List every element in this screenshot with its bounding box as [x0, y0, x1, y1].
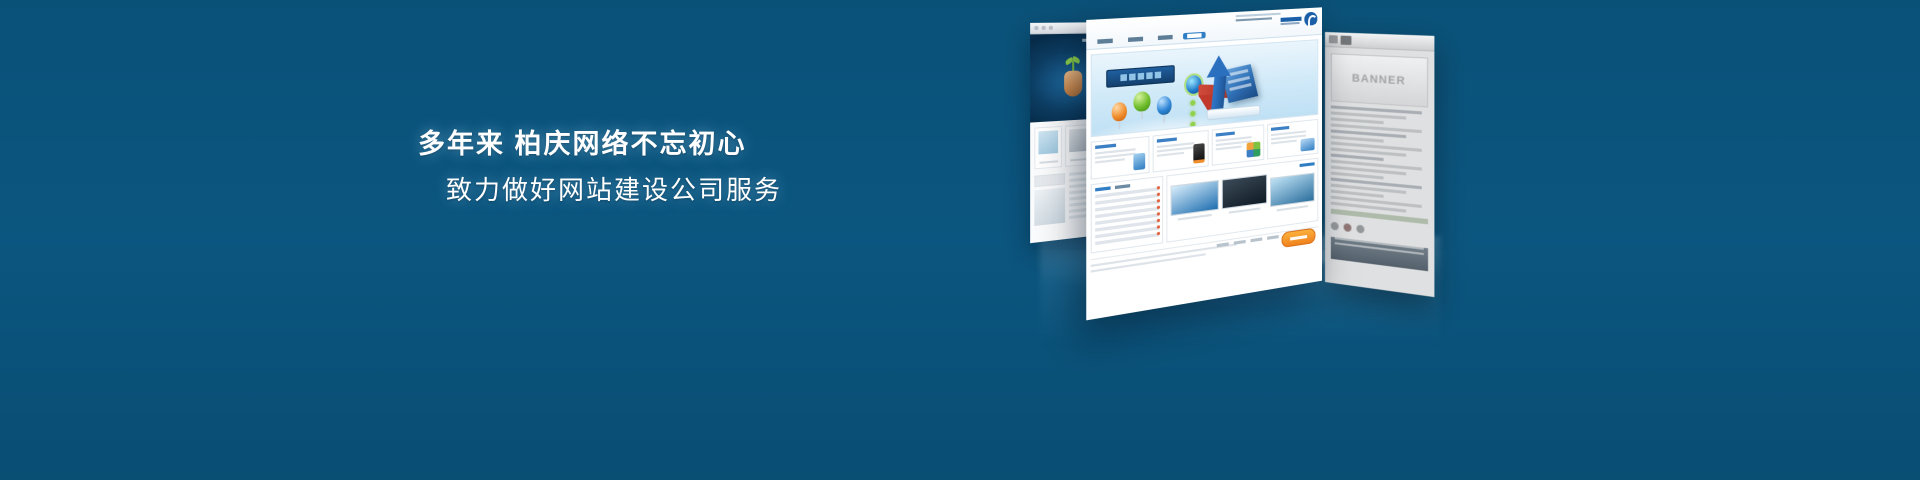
right-window-banner-label: BANNER — [1352, 72, 1406, 87]
hero-title-plate — [1106, 65, 1175, 88]
grid-icon — [1247, 141, 1261, 157]
sprout-icon — [1060, 56, 1086, 98]
monitor-icon — [1301, 138, 1315, 152]
main-nav — [1093, 32, 1206, 46]
mockup-group: BANNER — [1020, 0, 1450, 330]
nav-item-3[interactable] — [1154, 34, 1177, 42]
headline-line-1: 多年来 柏庆网络不忘初心 — [418, 128, 978, 162]
right-window-titlebar — [1325, 32, 1434, 52]
feature-card-phone[interactable] — [1152, 130, 1208, 173]
green-dots — [1190, 100, 1195, 127]
portfolio-thumb[interactable] — [1222, 174, 1268, 215]
right-window-mockup: BANNER — [1325, 32, 1434, 297]
right-window-banner: BANNER — [1331, 53, 1428, 107]
header-slogan — [1236, 13, 1281, 24]
dot-icon — [1344, 223, 1352, 232]
site-logo — [1281, 12, 1318, 29]
main-window-mockup — [1086, 7, 1322, 320]
feature-card-folder[interactable] — [1091, 136, 1149, 180]
footer-cta-button[interactable] — [1282, 228, 1316, 249]
left-window-figure-col — [1034, 173, 1065, 226]
phone-icon — [1193, 143, 1204, 164]
banner-stage: 多年来 柏庆网络不忘初心 致力做好网站建设公司服务 — [0, 0, 1920, 480]
news-list — [1091, 176, 1164, 254]
product-card — [1034, 126, 1062, 170]
nav-item-1[interactable] — [1093, 37, 1117, 45]
portfolio-thumb[interactable] — [1171, 180, 1219, 222]
right-window-text-lines — [1325, 105, 1434, 216]
nav-item-4-active[interactable] — [1183, 32, 1206, 40]
arrow-up-icon — [1207, 55, 1231, 78]
feature-card-grid[interactable] — [1211, 124, 1264, 166]
footer-links[interactable] — [1217, 235, 1279, 247]
nav-item-2[interactable] — [1124, 35, 1148, 43]
folder-icon — [1133, 153, 1145, 171]
dot-icon — [1356, 225, 1364, 234]
feature-card-monitor[interactable] — [1267, 119, 1318, 160]
portfolio-thumb[interactable] — [1270, 172, 1314, 212]
background-glow — [0, 0, 1920, 480]
logo-mark-icon — [1304, 12, 1317, 27]
dot-icon — [1331, 222, 1339, 231]
headline-line-2: 致力做好网站建设公司服务 — [446, 174, 978, 207]
headline-block: 多年来 柏庆网络不忘初心 致力做好网站建设公司服务 — [418, 128, 978, 206]
